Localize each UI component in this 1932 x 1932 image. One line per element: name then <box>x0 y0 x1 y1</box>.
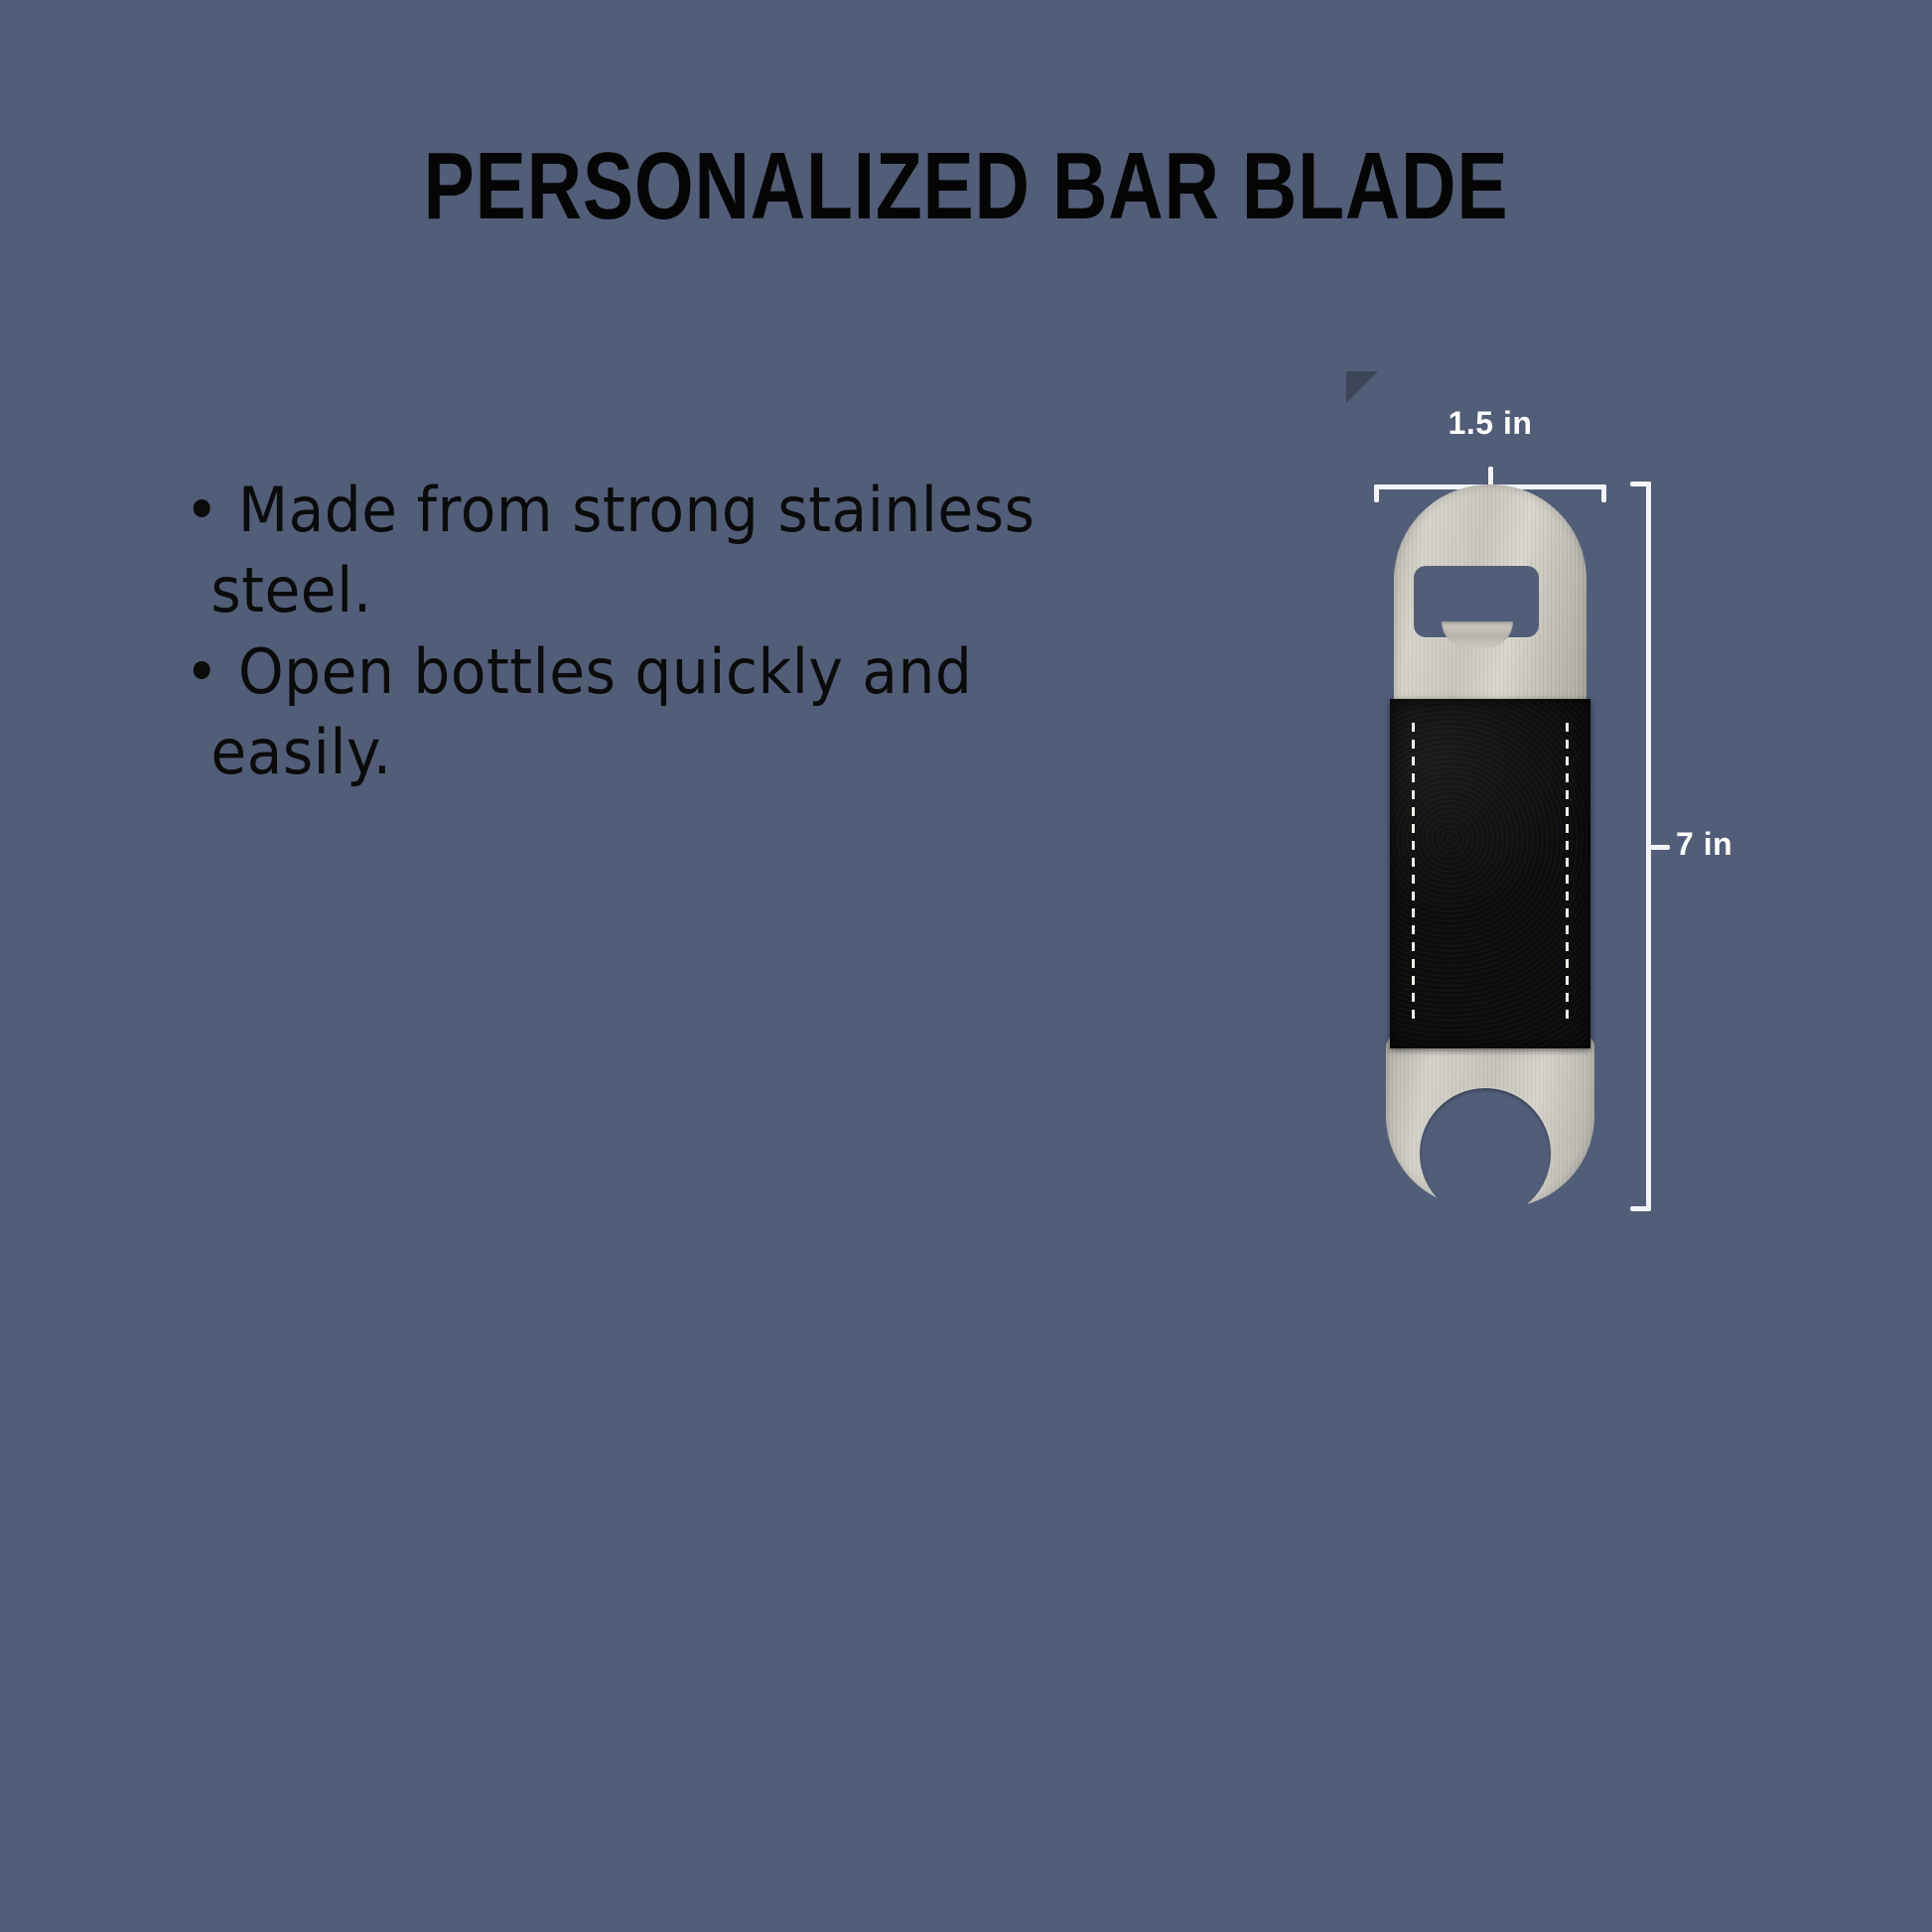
product-image-stage: 1.5 in 7 in <box>1330 357 1747 1390</box>
feature-bullet-1: • Made from strong stainless steel. <box>185 471 1118 630</box>
height-dimension-bracket <box>1628 482 1658 1211</box>
corner-triangle-icon <box>1346 371 1378 403</box>
height-bracket-tick-top <box>1630 482 1651 486</box>
width-dimension-label: 1.5 in <box>1374 405 1606 442</box>
height-bracket-tick-bottom <box>1630 1206 1651 1211</box>
stitching-left <box>1412 723 1415 1025</box>
width-bracket-tick-right <box>1601 484 1606 502</box>
page-title: PERSONALIZED BAR BLADE <box>194 139 1739 234</box>
finger-hole <box>1420 1088 1551 1219</box>
stitching-right <box>1566 723 1569 1025</box>
infographic-canvas: PERSONALIZED BAR BLADE • Made from stron… <box>0 0 1932 1932</box>
feature-bullet-2: • Open bottles quickly and easily. <box>185 632 1118 792</box>
bar-blade-product-image <box>1380 484 1600 1207</box>
width-bracket-tick-left <box>1374 484 1379 502</box>
height-bracket-stem <box>1646 845 1670 850</box>
black-leather-wrap <box>1390 699 1590 1048</box>
feature-list: • Made from strong stainless steel. • Op… <box>185 471 1177 794</box>
height-dimension-label: 7 in <box>1676 826 1732 863</box>
